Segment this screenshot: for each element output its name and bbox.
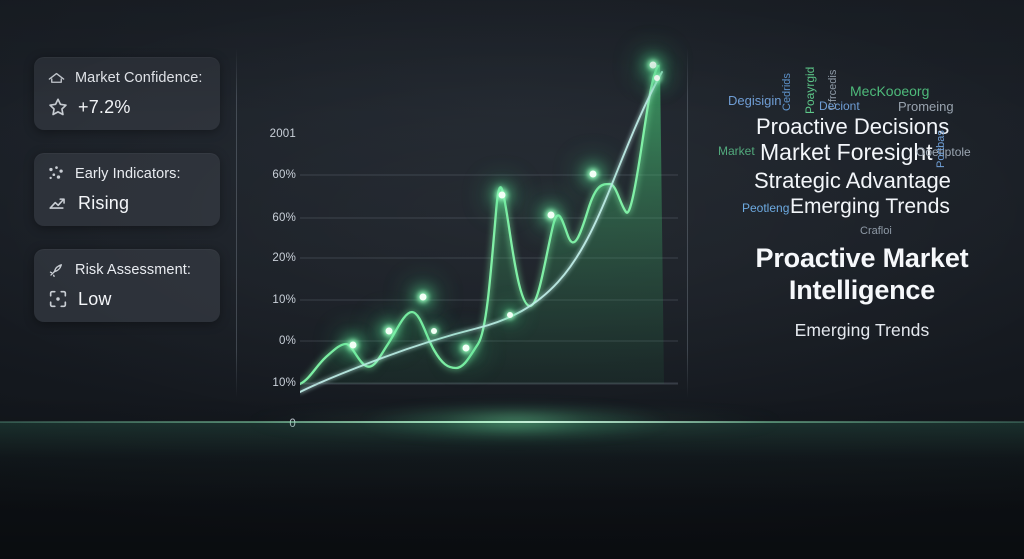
stat-value: +7.2% [78,97,131,118]
panel-divider-left [236,48,237,398]
word-cloud-term[interactable]: Market [718,145,755,157]
chart-svg [300,44,678,400]
word-cloud-term[interactable]: Deciont [819,100,860,112]
word-cloud-term[interactable]: Proactive Decisions [756,116,949,138]
chart-y-axis: 200160%60%20%10%0%10%0 [248,44,296,400]
scene-root: Market Confidence: +7.2% [0,0,1024,559]
stat-card-value-row: +7.2% [47,96,207,118]
stat-card-label-row: Market Confidence: [47,68,207,87]
chart-data-point[interactable] [589,170,596,177]
word-cloud-term[interactable]: Crafloi [860,226,892,237]
chart-data-point[interactable] [548,211,555,218]
chart-plot-area[interactable] [300,44,678,400]
headline-line-1: Proactive Market [700,243,1024,275]
word-cloud-term[interactable]: Market Foresight [760,141,933,164]
y-axis-tick-label: 0% [279,335,296,347]
word-cloud-term[interactable]: Promeing [898,100,954,113]
chart-data-point[interactable] [349,341,356,348]
word-cloud-term[interactable]: Strategic Advantage [754,170,951,192]
trend-arrow-icon [47,192,69,214]
headline-block: Proactive Market Intelligence Emerging T… [700,243,1024,341]
stat-card-value-row: Low [47,288,207,310]
y-axis-tick-label: 60% [272,212,296,224]
chart-data-point[interactable] [463,345,470,352]
stat-card-market-confidence[interactable]: Market Confidence: +7.2% [34,57,220,130]
headline-subtitle: Emerging Trends [700,320,1024,341]
y-axis-tick-label: 2001 [270,128,296,140]
word-cloud-term[interactable]: MecKooeorg [850,84,929,98]
chart-data-point[interactable] [431,328,437,334]
scatter-dots-icon [47,164,66,183]
stat-card-label-row: Early Indicators: [47,164,207,183]
stat-card-label-row: Risk Assessment: [47,260,207,279]
chart-data-point[interactable] [650,62,657,69]
chart-data-point[interactable] [385,327,392,334]
chart-data-point[interactable] [507,312,513,318]
word-cloud[interactable]: DegisiginCedridsPoayrgidCfrcedisDeciontM… [700,56,1024,256]
rocket-icon [47,260,66,279]
word-cloud-term[interactable]: Cedrids [782,73,793,111]
focus-frame-icon [47,288,69,310]
y-axis-tick-label: 20% [272,252,296,264]
chart-data-point[interactable] [654,75,660,81]
chevron-up-home-icon [47,68,66,87]
star-icon [47,96,69,118]
stat-value: Rising [78,193,129,214]
word-cloud-term[interactable]: Peotleng [742,202,789,214]
stat-label: Market Confidence: [75,70,203,86]
stat-value: Low [78,289,112,310]
headline-line-2: Intelligence [700,275,1024,307]
y-axis-tick-label: 10% [272,294,296,306]
stat-label: Risk Assessment: [75,262,191,278]
horizon-line [0,421,1024,423]
stat-card-risk-assessment[interactable]: Risk Assessment: Low [34,249,220,322]
stat-card-early-indicators[interactable]: Early Indicators: Rising [34,153,220,226]
stat-label: Early Indicators: [75,166,181,182]
chart-data-point[interactable] [499,192,506,199]
word-cloud-term[interactable]: Degisigin [728,94,781,107]
panel-divider-right [687,48,688,398]
market-trend-chart[interactable]: 200160%60%20%10%0%10%0 [248,44,678,400]
word-cloud-term[interactable]: Portbas [936,130,947,168]
word-cloud-term[interactable]: Poayrgid [804,67,816,114]
word-cloud-term[interactable]: Emerging Trends [790,196,950,217]
chart-data-point[interactable] [419,293,426,300]
y-axis-tick-label: 10% [272,377,296,389]
stat-card-value-row: Rising [47,192,207,214]
stats-card-list: Market Confidence: +7.2% [34,57,220,345]
y-axis-tick-label: 60% [272,169,296,181]
